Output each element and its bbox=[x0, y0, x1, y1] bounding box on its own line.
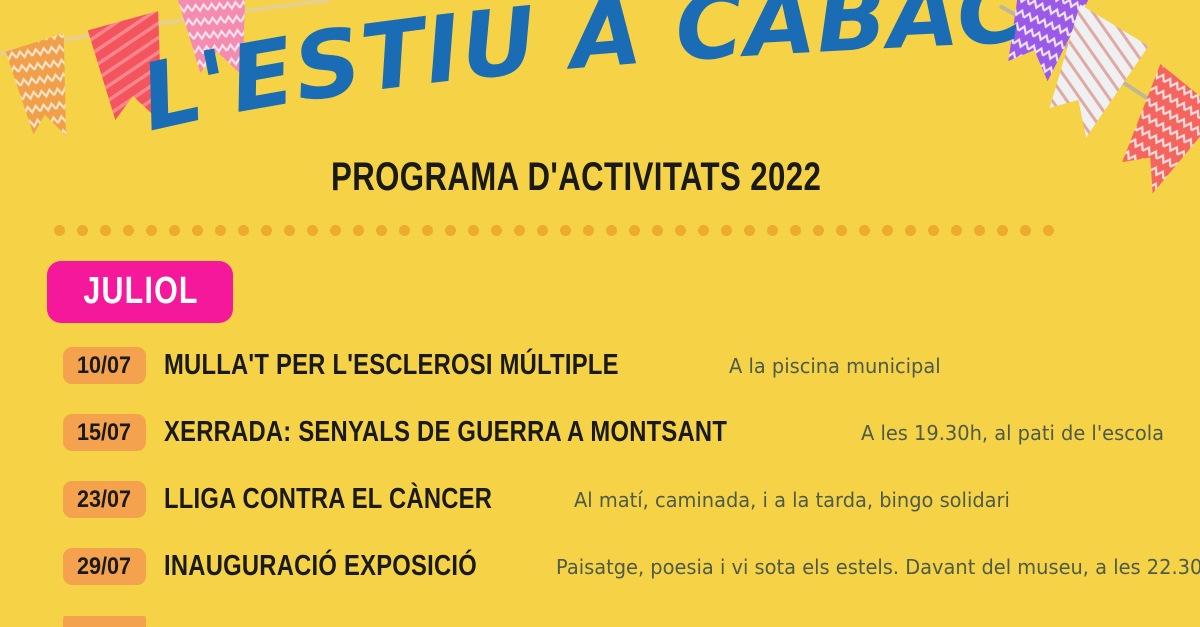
event-date-badge: 15/07 bbox=[63, 414, 146, 451]
poster-title-text: L'ESTIU A CABACÉS bbox=[0, 0, 1028, 152]
month-badge-juliol: JULIOL bbox=[47, 261, 233, 323]
event-date: 10/07 bbox=[77, 353, 131, 379]
event-row[interactable]: 23/07 LLIGA CONTRA EL CÀNCER Al matí, ca… bbox=[0, 482, 1200, 517]
event-date-badge: 29/07 bbox=[63, 548, 146, 585]
poster-subtitle: PROGRAMA D'ACTIVITATS 2022 bbox=[331, 155, 821, 199]
event-title: MULLA'T PER L'ESCLEROSI MÚLTIPLE bbox=[164, 350, 619, 381]
event-title: XERRADA: SENYALS DE GUERRA A MONTSANT bbox=[164, 417, 727, 448]
month-badge-label: JULIOL bbox=[83, 271, 198, 311]
event-title: INAUGURACIÓ EXPOSICIÓ bbox=[164, 551, 477, 582]
event-date-badge: 23/07 bbox=[63, 481, 146, 518]
event-title: LLIGA CONTRA EL CÀNCER bbox=[164, 484, 492, 515]
event-date: 29/07 bbox=[77, 554, 131, 580]
event-date-badge bbox=[63, 616, 146, 627]
event-description: Al matí, caminada, i a la tarda, bingo s… bbox=[574, 488, 1010, 512]
event-description: A la piscina municipal bbox=[729, 354, 941, 378]
event-date: 15/07 bbox=[77, 420, 131, 446]
dotted-divider bbox=[48, 225, 1058, 236]
event-description: Paisatge, poesia i vi sota els estels. D… bbox=[556, 555, 1200, 579]
event-date: 23/07 bbox=[77, 487, 131, 513]
event-row[interactable]: 29/07 INAUGURACIÓ EXPOSICIÓ Paisatge, po… bbox=[0, 549, 1200, 584]
event-row[interactable]: 10/07 MULLA'T PER L'ESCLEROSI MÚLTIPLE A… bbox=[0, 348, 1200, 383]
event-list: 10/07 MULLA'T PER L'ESCLEROSI MÚLTIPLE A… bbox=[0, 348, 1200, 627]
poster-title: L'ESTIU A CABACÉS bbox=[0, 6, 1200, 156]
event-description: A les 19.30h, al pati de l'escola bbox=[861, 421, 1164, 445]
event-row[interactable]: 15/07 XERRADA: SENYALS DE GUERRA A MONTS… bbox=[0, 415, 1200, 450]
event-row[interactable] bbox=[0, 616, 1200, 627]
poster-canvas: L'ESTIU A CABACÉS PROGRAMA D'ACTIVITATS … bbox=[0, 0, 1200, 627]
event-date-badge: 10/07 bbox=[63, 347, 146, 384]
